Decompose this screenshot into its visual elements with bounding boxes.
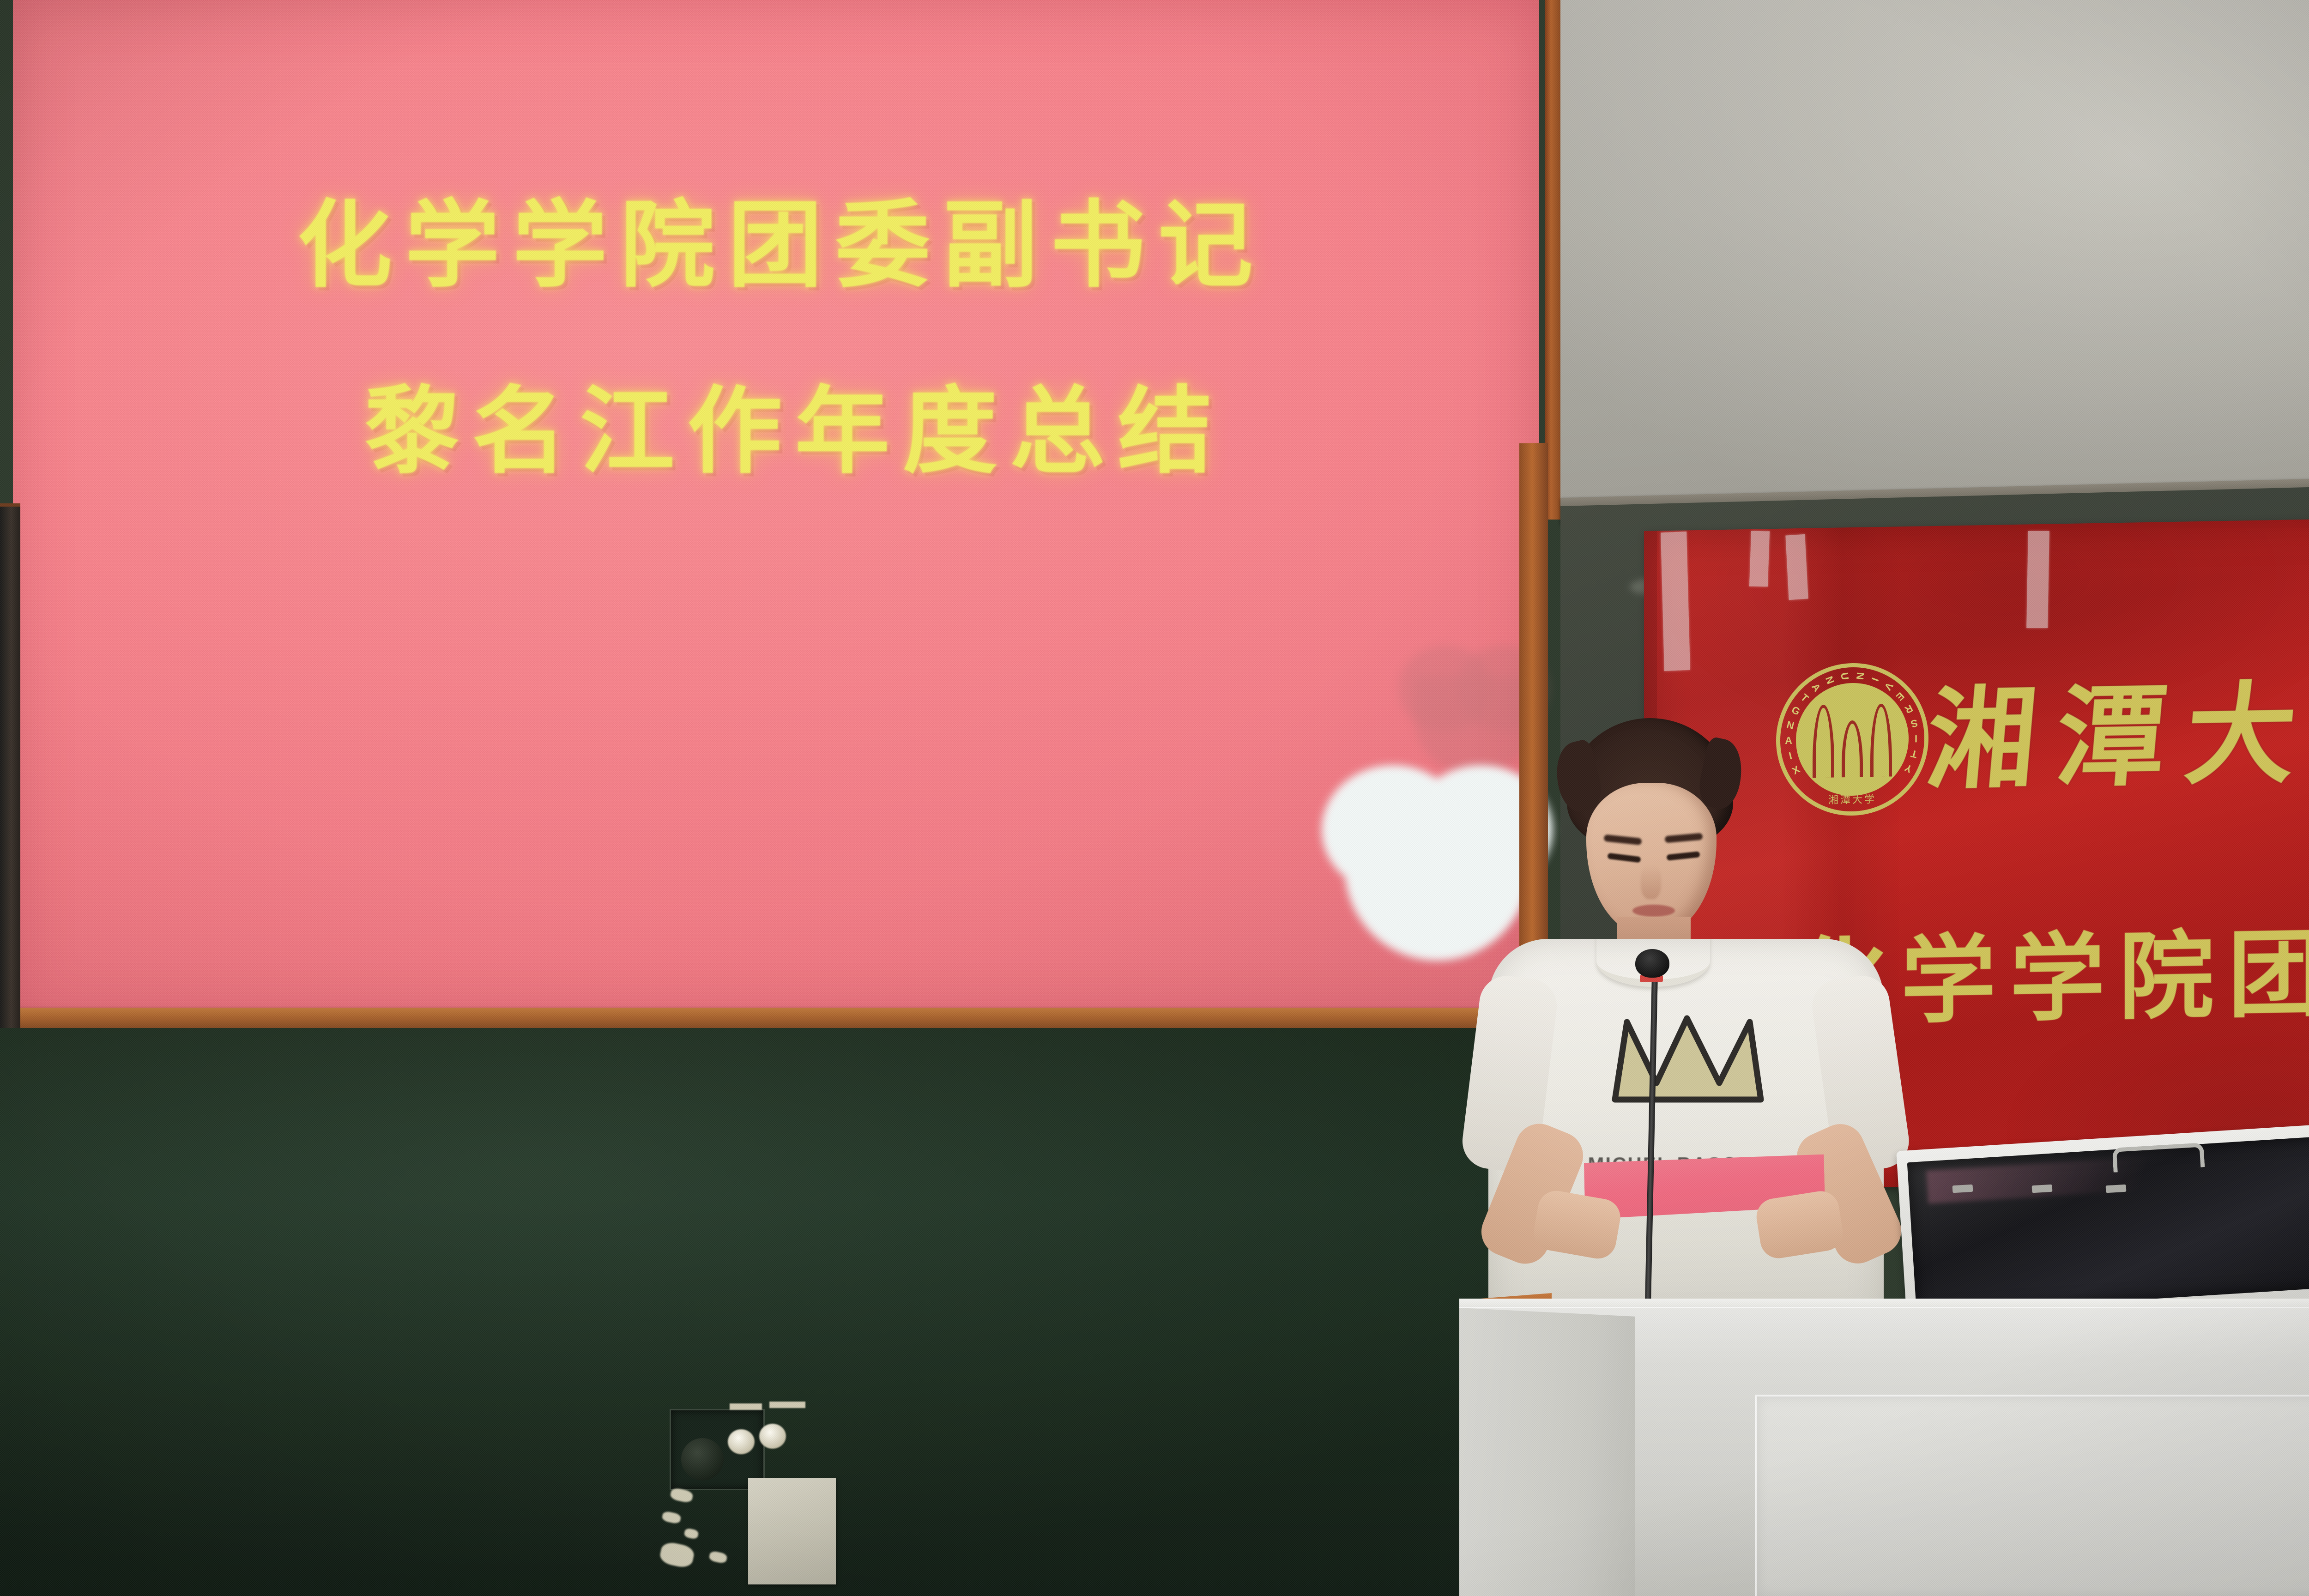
nose — [1641, 865, 1661, 899]
podium-front-panel — [1755, 1395, 2309, 1596]
podium-hinge — [2106, 1185, 2127, 1193]
socket-knob-icon — [681, 1438, 724, 1481]
tape-strip — [1661, 532, 1690, 671]
wall-trim-vertical — [1545, 0, 1560, 520]
seal-ring-letter: V — [1882, 680, 1896, 693]
projection-screen — [13, 0, 1539, 1025]
seal-ring-letter: U — [1838, 672, 1851, 681]
tape-strip — [1749, 531, 1770, 587]
podium-hinge — [1952, 1185, 1973, 1193]
banner-university-name: 湘潭大學 — [1921, 642, 2309, 810]
seal-ring-letter: N — [1823, 675, 1837, 686]
seal-ring-letter: R — [1903, 702, 1915, 716]
crown-icon — [1608, 1014, 1770, 1104]
socket-cover-plate — [748, 1478, 836, 1584]
presenter: MICHEL BASQUIAT — [1471, 718, 1900, 1328]
podium-left-face — [1459, 1308, 1635, 1596]
seal-ring-letter: T — [1798, 691, 1811, 705]
seal-ring-letter: I — [1915, 732, 1917, 744]
seal-ring-letter: S — [1910, 717, 1919, 730]
socket-indicator-lights — [728, 1421, 802, 1456]
wall-power-socket[interactable] — [660, 1402, 827, 1582]
back-wall — [1545, 0, 2309, 515]
seal-ring-letter: A — [1809, 681, 1823, 694]
tape-strip — [2026, 531, 2049, 628]
seal-ring-letter: G — [1789, 704, 1802, 718]
screen-frame-left — [0, 503, 20, 1107]
paint-chips — [660, 1485, 753, 1577]
podium-lid[interactable] — [1896, 1121, 2309, 1326]
podium-hinge — [2032, 1185, 2053, 1193]
seal-ring-letter: I — [1869, 676, 1881, 683]
microphone-icon — [1635, 949, 1669, 978]
classroom-presentation-scene: 化学学院团委副书记 黎名江作年度总结 XIANGTANUNIVERSITY — [0, 0, 2309, 1596]
screen-vignette — [13, 0, 1539, 1025]
seal-ring-letter: N — [1854, 671, 1867, 680]
seal-ring-letter: T — [1910, 747, 1918, 760]
seal-ring-letter: Y — [1903, 762, 1914, 775]
podium-screen-glass — [1907, 1133, 2309, 1314]
seal-ring-letter: E — [1893, 689, 1906, 703]
mouth — [1632, 905, 1675, 917]
socket-screws — [730, 1402, 817, 1412]
tape-strip — [1785, 534, 1808, 600]
